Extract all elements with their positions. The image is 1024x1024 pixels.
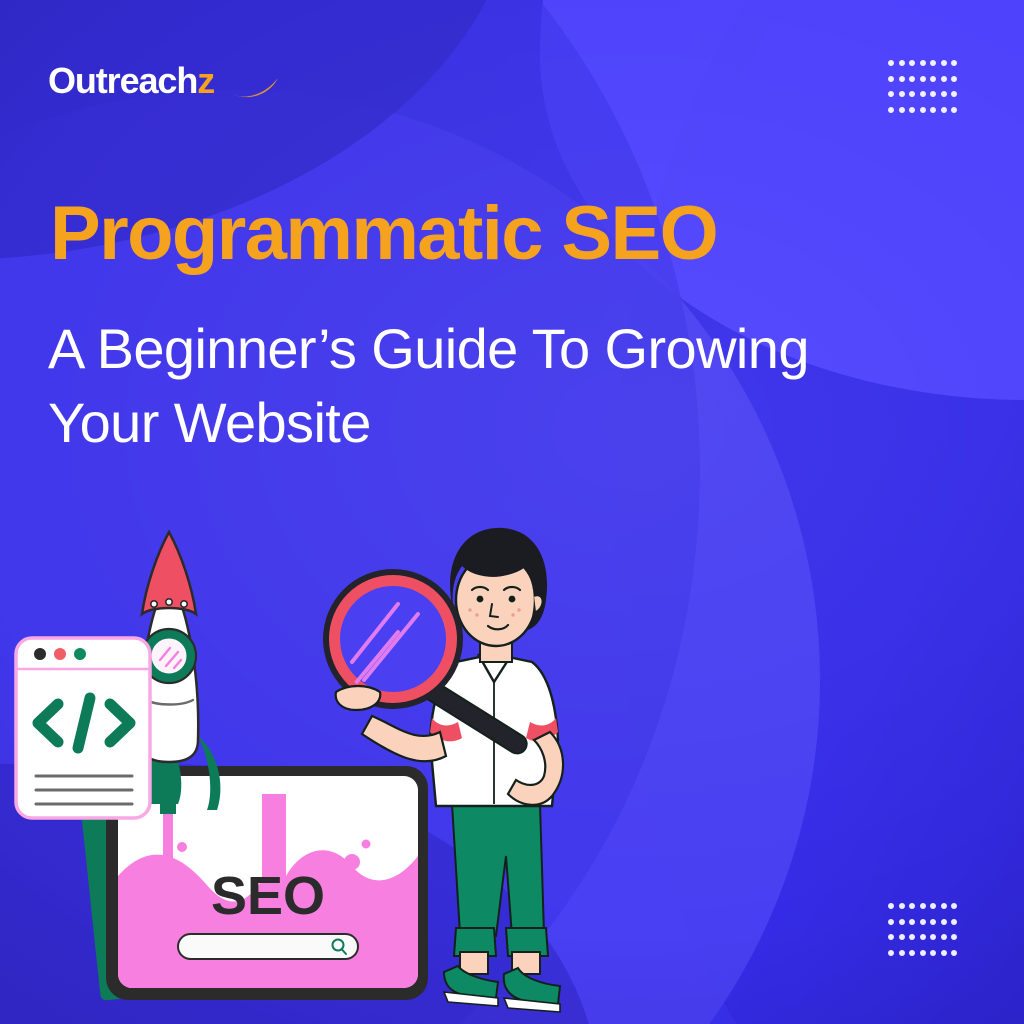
dot <box>888 91 894 97</box>
dot <box>888 950 894 956</box>
dot <box>909 60 915 66</box>
dot <box>909 76 915 82</box>
dot <box>888 934 894 940</box>
dot <box>951 107 957 113</box>
dot <box>920 60 926 66</box>
dot <box>951 91 957 97</box>
code-window-card <box>16 638 150 818</box>
dot <box>909 919 915 925</box>
logo-text: Outreachz <box>48 63 214 99</box>
dot <box>920 76 926 82</box>
dot <box>951 60 957 66</box>
dot <box>899 934 905 940</box>
logo-accent-letter: z <box>197 63 214 99</box>
dot <box>941 107 947 113</box>
dot <box>920 107 926 113</box>
dot <box>920 919 926 925</box>
dot <box>941 76 947 82</box>
dot <box>951 934 957 940</box>
dot-grid-top-right <box>888 60 962 122</box>
dot <box>941 903 947 909</box>
dot <box>930 107 936 113</box>
window-dot-minimize <box>54 648 66 660</box>
dot <box>930 934 936 940</box>
dot <box>951 950 957 956</box>
swoosh-icon <box>230 74 282 100</box>
dot <box>951 903 957 909</box>
dot <box>899 107 905 113</box>
tablet-seo-label: SEO <box>211 866 325 926</box>
dot <box>909 91 915 97</box>
tablet-search-bar <box>178 934 358 959</box>
dot <box>899 919 905 925</box>
dot-grid-bottom-right <box>888 903 962 965</box>
dot <box>941 950 947 956</box>
dot <box>909 903 915 909</box>
dot <box>941 60 947 66</box>
dot <box>909 934 915 940</box>
dot <box>930 76 936 82</box>
dot <box>920 91 926 97</box>
page-title: Programmatic SEO <box>50 196 717 272</box>
dot <box>888 919 894 925</box>
dot <box>930 919 936 925</box>
dot <box>909 950 915 956</box>
dot <box>941 91 947 97</box>
dot <box>899 91 905 97</box>
seo-hero-illustration: SEO <box>0 504 640 1024</box>
page-subtitle: A Beginner’s Guide To Growing Your Websi… <box>48 312 908 461</box>
window-dot-close <box>34 648 46 660</box>
dot <box>930 903 936 909</box>
dot <box>941 934 947 940</box>
dot <box>899 76 905 82</box>
logo-word: Outreach <box>48 60 197 101</box>
dot <box>930 950 936 956</box>
brand-logo[interactable]: Outreachz <box>48 58 214 104</box>
dot <box>920 934 926 940</box>
dot <box>930 60 936 66</box>
dot <box>920 903 926 909</box>
dot <box>888 76 894 82</box>
dot <box>951 76 957 82</box>
dot <box>899 903 905 909</box>
dot <box>951 919 957 925</box>
dot <box>888 60 894 66</box>
dot <box>909 107 915 113</box>
dot <box>930 91 936 97</box>
dot <box>888 903 894 909</box>
poster-canvas: Outreachz Programmatic SEO A Beginner’s … <box>0 0 1024 1024</box>
window-dot-maximize <box>74 648 86 660</box>
dot <box>899 60 905 66</box>
dot <box>920 950 926 956</box>
dot <box>899 950 905 956</box>
dot <box>888 107 894 113</box>
dot <box>941 919 947 925</box>
